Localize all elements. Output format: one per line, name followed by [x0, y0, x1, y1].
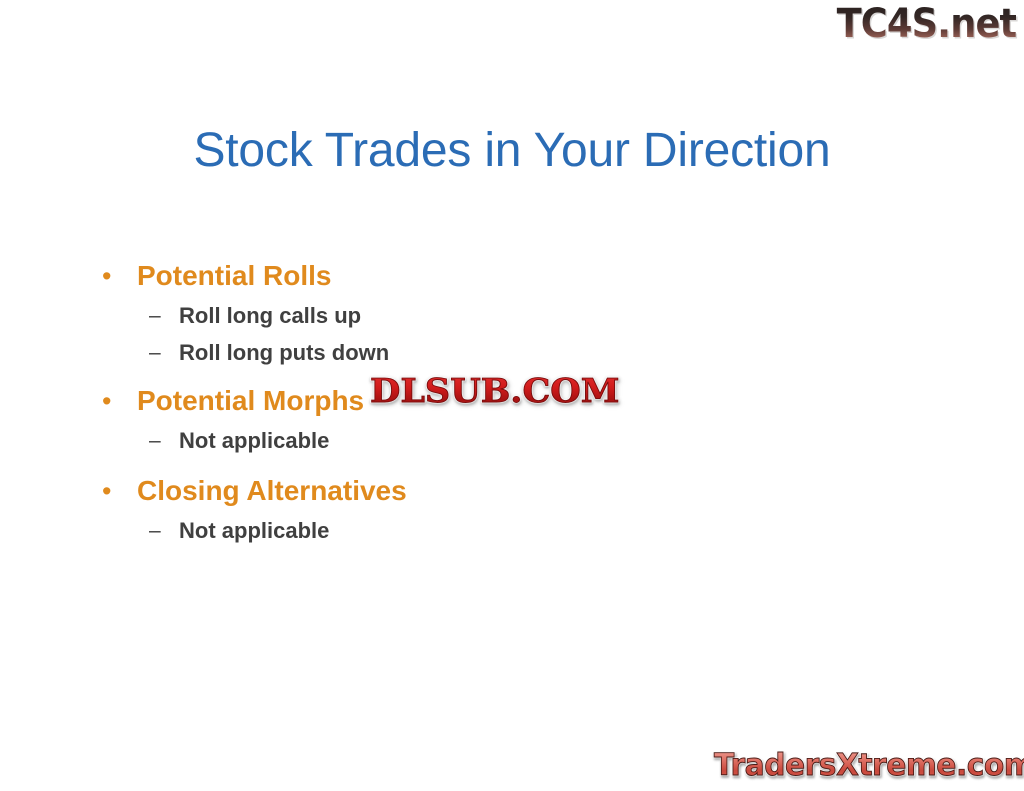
- dash-bullet-icon: –: [96, 514, 179, 548]
- list-item-label: Closing Alternatives: [137, 471, 407, 511]
- list-item-level1: • Closing Alternatives: [96, 471, 796, 511]
- list-item-level2: – Roll long calls up: [96, 299, 796, 333]
- bullet-dot-icon: •: [96, 381, 137, 421]
- tc4s-logo-text: TC4S.net: [836, 2, 1016, 46]
- list-item-label: Roll long puts down: [179, 336, 389, 370]
- list-item-label: Not applicable: [179, 424, 329, 458]
- list-item-label: Potential Morphs: [137, 381, 364, 421]
- slide-title: Stock Trades in Your Direction: [0, 122, 1024, 180]
- tradersxtreme-watermark-outline: TradersXtreme.com: [714, 747, 1024, 785]
- dash-bullet-icon: –: [96, 424, 179, 458]
- dlsub-watermark-outline: DLSUB.COM: [370, 371, 619, 411]
- list-item-level2: – Not applicable: [96, 514, 796, 548]
- list-item-label: Potential Rolls: [137, 256, 331, 296]
- bullet-dot-icon: •: [96, 471, 137, 511]
- bullet-dot-icon: •: [96, 256, 137, 296]
- list-item-label: Not applicable: [179, 514, 329, 548]
- presentation-slide: TC4S.net TC4S.net Stock Trades in Your D…: [0, 0, 1024, 791]
- list-item-level1: • Potential Rolls: [96, 256, 796, 296]
- dash-bullet-icon: –: [96, 299, 179, 333]
- list-item-level2: – Not applicable: [96, 424, 796, 458]
- list-spacer: [96, 461, 796, 471]
- list-item-level2: – Roll long puts down: [96, 336, 796, 370]
- list-item-label: Roll long calls up: [179, 299, 361, 333]
- dash-bullet-icon: –: [96, 336, 179, 370]
